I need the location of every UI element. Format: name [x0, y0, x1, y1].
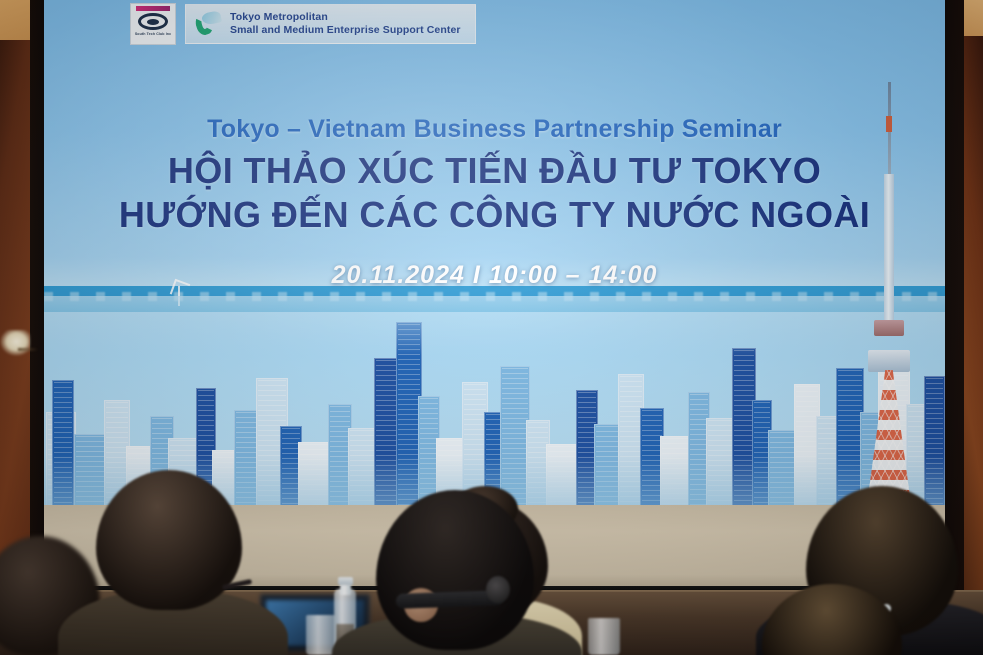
screenshot-root: Tokyo – Vietnam Business Partnership Sem…	[0, 0, 983, 655]
org-name-line-2: Small and Medium Enterprise Support Cent…	[230, 24, 461, 37]
org-banner: Tokyo Metropolitan Small and Medium Ente…	[185, 4, 476, 44]
slide-date-time: 20.11.2024 I 10:00 – 14:00	[44, 261, 945, 290]
org-name-line-1: Tokyo Metropolitan	[230, 11, 461, 24]
slide-header-banner: South Tech Club Inc Tokyo Metropolitan S…	[130, 3, 476, 45]
tokyo-tower-icon	[850, 82, 930, 502]
headset-earcup-icon	[486, 576, 510, 603]
water-bottle-cap	[338, 577, 353, 585]
slide-subtitle: Tokyo – Vietnam Business Partnership Sem…	[44, 115, 945, 144]
slide-headline-line-1: HỘI THẢO XÚC TIẾN ĐẦU TƯ TOKYO	[44, 150, 945, 192]
partner-logo-caption: South Tech Club Inc	[132, 32, 174, 36]
partner-logo: South Tech Club Inc	[130, 3, 176, 45]
partner-logo-mark-icon	[138, 13, 168, 30]
right-wood-panel	[962, 36, 983, 655]
tokyo-metropolitan-smesc-logo-icon	[194, 11, 221, 37]
decorative-flower	[0, 330, 30, 356]
slide-headline-line-2: HƯỚNG ĐẾN CÁC CÔNG TY NƯỚC NGOÀI	[44, 194, 945, 236]
flower-stem	[18, 348, 38, 351]
projected-slide: Tokyo – Vietnam Business Partnership Sem…	[44, 0, 945, 505]
partner-logo-bar	[136, 6, 170, 11]
drinking-glass-right	[588, 618, 620, 655]
org-banner-text: Tokyo Metropolitan Small and Medium Ente…	[230, 11, 461, 36]
